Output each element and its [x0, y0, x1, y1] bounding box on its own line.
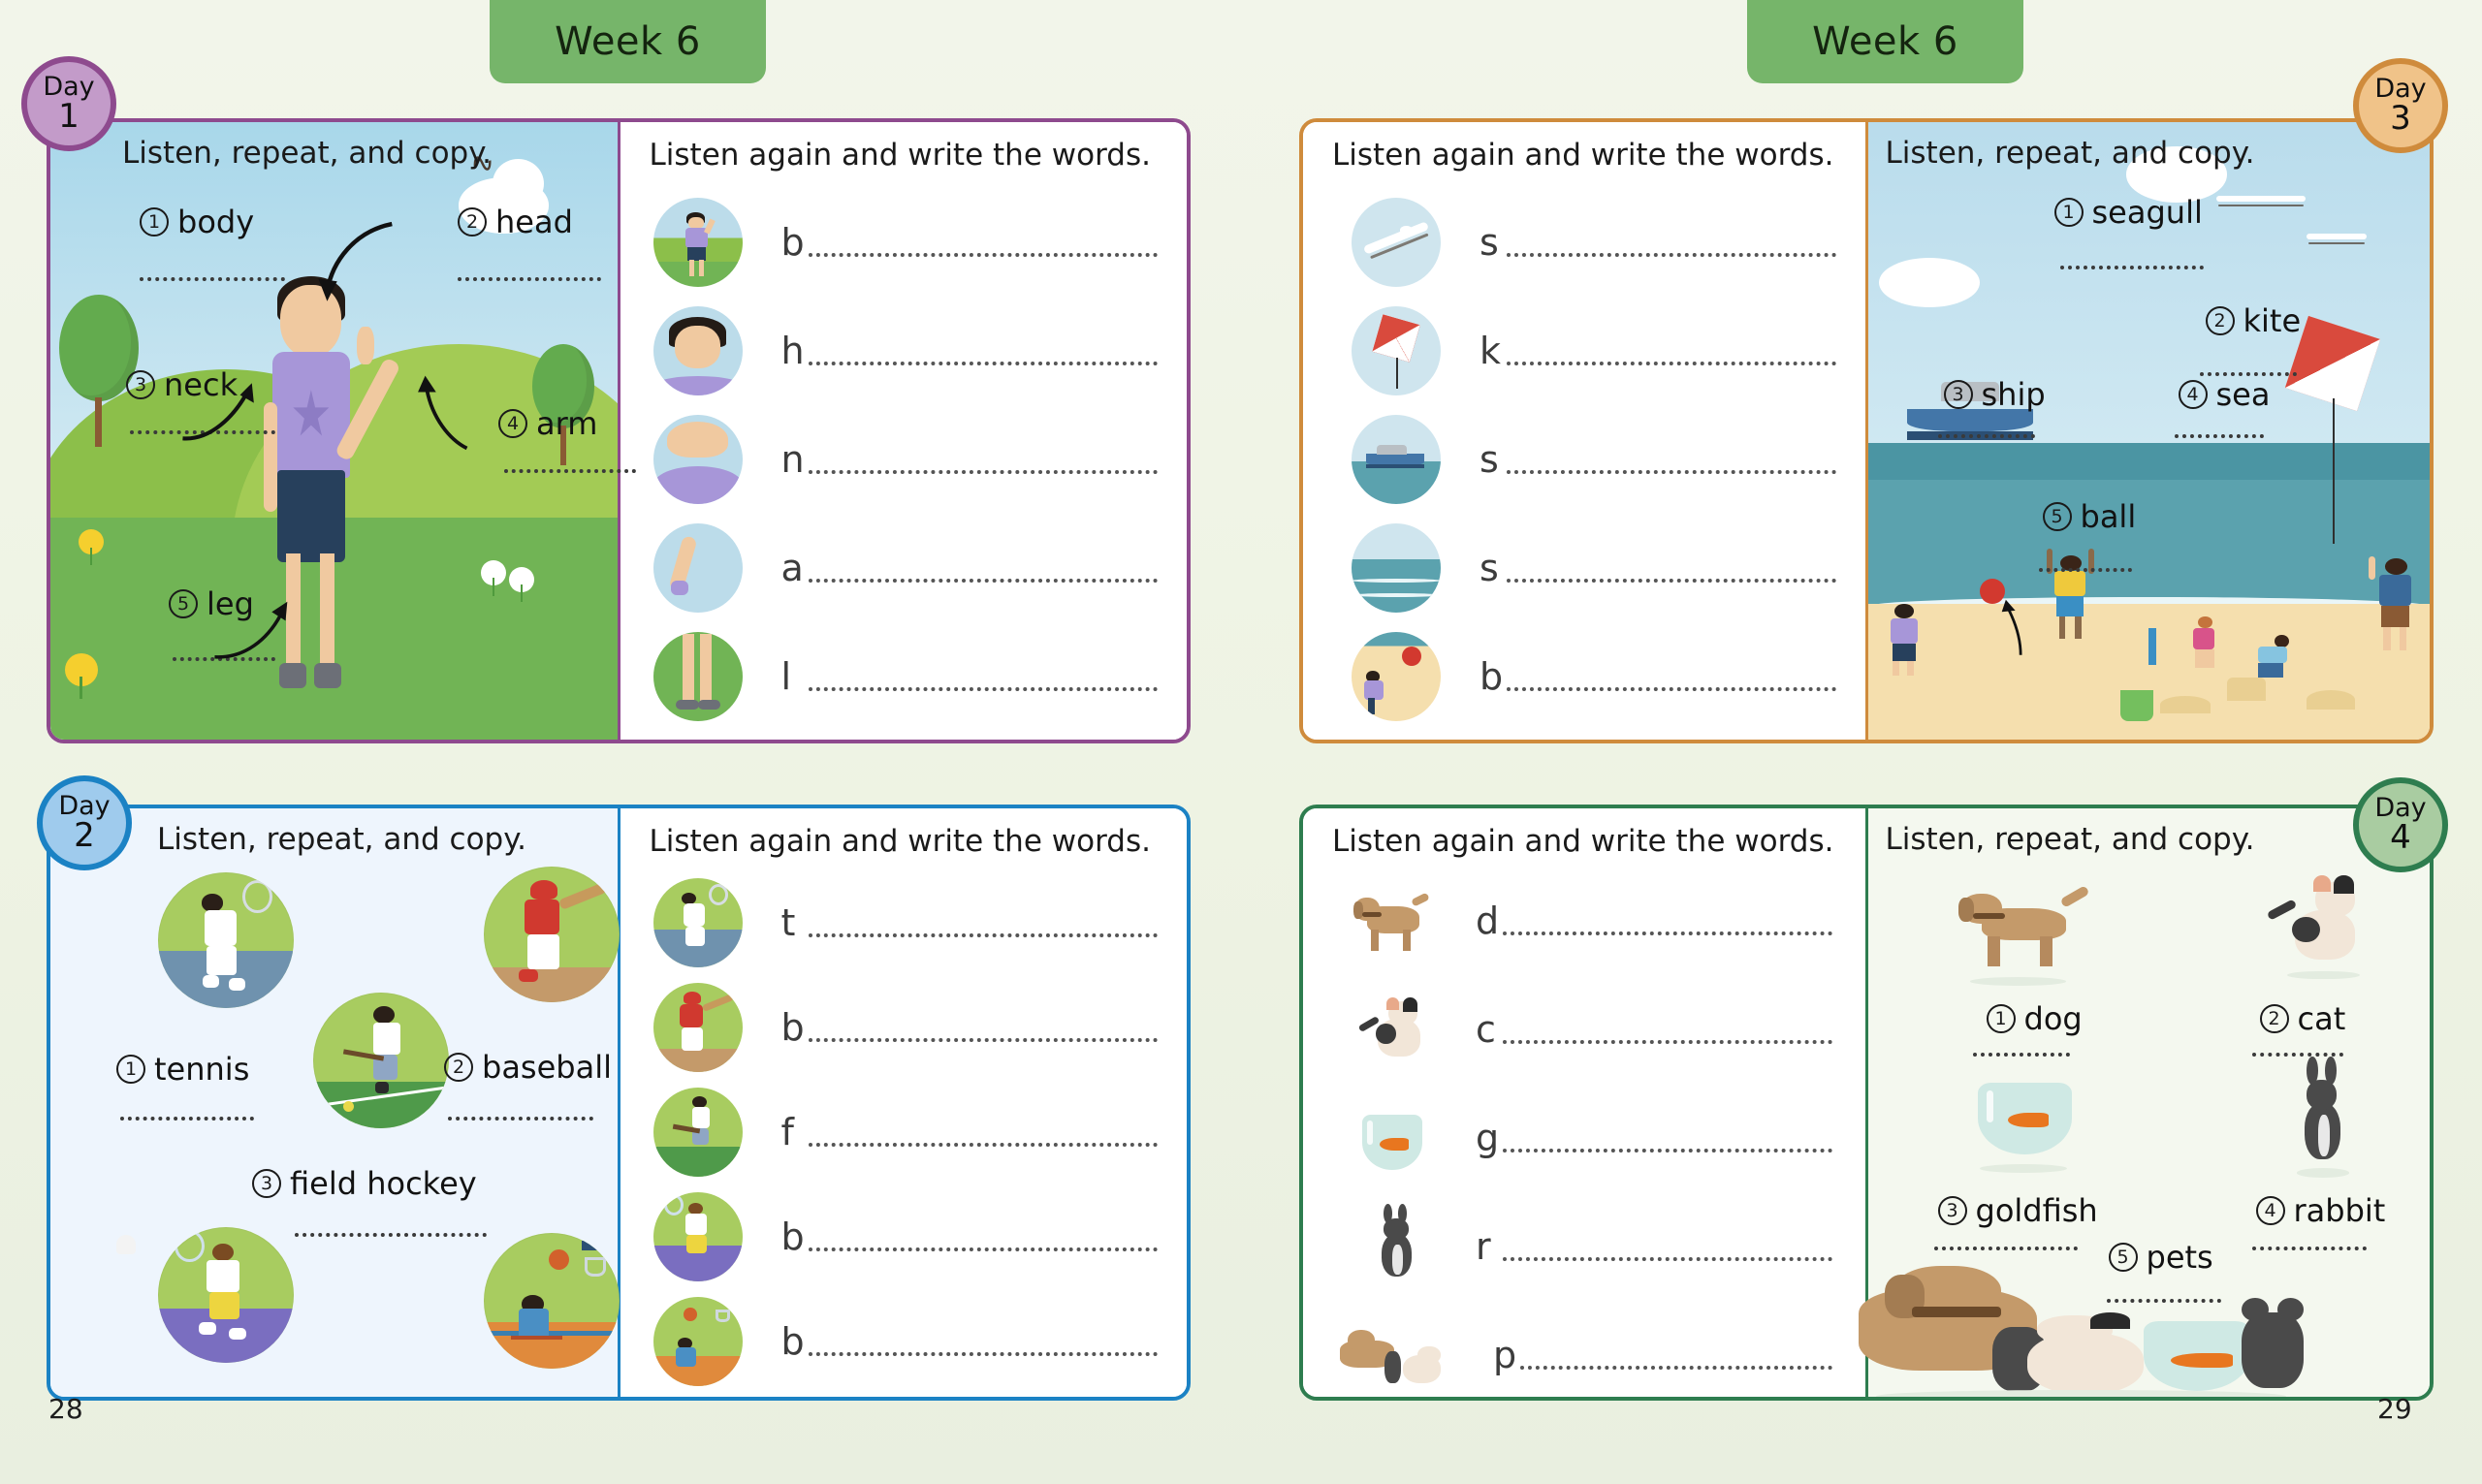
page-number-right: 29: [2377, 1393, 2412, 1425]
letter-hint: s: [1480, 547, 1512, 589]
vocab-word: kite: [2243, 302, 2302, 339]
write-row: s: [1352, 198, 1836, 287]
dog-illustration: [1950, 872, 2095, 979]
bucket-icon: [2120, 690, 2153, 721]
child-with-spade: [2182, 616, 2225, 673]
vocab-word: tennis: [154, 1051, 249, 1088]
day3-write-column: Listen again and write the words. s k: [1303, 122, 1865, 740]
vocab-word: body: [177, 204, 254, 240]
vocab-word: sea: [2216, 376, 2271, 413]
letter-hint: h: [781, 330, 814, 372]
answer-line[interactable]: [2107, 1299, 2221, 1303]
letter-hint: b: [1480, 655, 1512, 698]
week-tab-right: Week 6: [1747, 0, 2023, 83]
day3-badge[interactable]: Day 3: [2353, 58, 2448, 153]
sand-mound-icon: [2307, 690, 2355, 710]
number-badge: 1: [116, 1055, 145, 1084]
tree-icon: [532, 344, 594, 461]
basketball-illustration: [484, 1233, 620, 1369]
answer-line[interactable]: [809, 362, 1158, 365]
write-row: h: [653, 306, 1158, 395]
day-number: 2: [74, 820, 95, 852]
day3-write-instruction: Listen again and write the words.: [1332, 138, 1833, 173]
answer-line[interactable]: [140, 277, 285, 281]
answer-line[interactable]: [2252, 1053, 2343, 1057]
number-badge: 3: [252, 1169, 281, 1198]
flower-icon: [79, 529, 104, 554]
number-badge: 5: [2043, 502, 2072, 531]
label-pets: 5 pets: [2109, 1239, 2213, 1276]
answer-line[interactable]: [809, 1352, 1158, 1356]
pointer-arrow: [1986, 579, 2053, 678]
day4-write-instruction: Listen again and write the words.: [1332, 824, 1833, 859]
answer-line[interactable]: [1507, 687, 1836, 691]
vocab-word: field hockey: [290, 1165, 477, 1202]
label-dog: 1 dog: [1987, 1000, 2083, 1037]
pointer-arrow: [277, 208, 402, 344]
write-row: b: [1352, 632, 1836, 721]
write-row: c: [1348, 985, 1832, 1074]
child-throwing-ball: [1879, 604, 1929, 678]
rabbit-illustration: [2274, 1057, 2367, 1173]
answer-line[interactable]: [809, 579, 1158, 583]
vocab-word: pets: [2147, 1239, 2213, 1276]
letter-hint: g: [1476, 1117, 1509, 1159]
day-number: 1: [58, 101, 80, 133]
letter-hint: r: [1476, 1225, 1509, 1268]
day4-instruction: Listen, repeat, and copy.: [1886, 822, 2255, 857]
answer-line[interactable]: [1503, 1149, 1832, 1152]
child-digging: [2250, 635, 2297, 683]
sea-deep: [1868, 443, 2431, 480]
day4-illustration: Listen, repeat, and copy. 1 dog: [1868, 808, 2431, 1397]
cat-thumb: [1348, 985, 1437, 1074]
answer-line[interactable]: [809, 470, 1158, 474]
vocab-word: baseball: [482, 1049, 612, 1086]
neck-thumb: [653, 415, 743, 504]
number-badge: 1: [140, 207, 169, 237]
vocab-word: head: [495, 204, 573, 240]
label-sea: 4 sea: [2179, 376, 2271, 413]
seagull-icon: [2307, 234, 2367, 239]
label-goldfish: 3 goldfish: [1938, 1192, 2098, 1229]
day1-write-column: Listen again and write the words. b: [620, 122, 1188, 740]
number-badge: 1: [2054, 198, 2084, 227]
sport-badminton: [143, 1227, 308, 1363]
answer-line[interactable]: [1507, 470, 1836, 474]
head-face-thumb: [653, 306, 743, 395]
sport-baseball: [469, 867, 634, 1002]
answer-line[interactable]: [1503, 1040, 1832, 1044]
vocab-word: neck: [164, 366, 238, 403]
number-badge: 3: [126, 370, 155, 399]
page-number-left: 28: [48, 1393, 83, 1425]
label-field-hockey: 3 field hockey: [252, 1165, 477, 1202]
day2-illustration: Listen, repeat, and copy. 1 tennis: [50, 808, 618, 1397]
field-hockey-illustration: [313, 993, 449, 1128]
legs-thumb: [653, 632, 743, 721]
letter-hint: b: [781, 221, 814, 264]
write-row: p: [1338, 1310, 1832, 1400]
letter-hint: l: [781, 655, 814, 698]
sport-field-hockey: [299, 993, 463, 1128]
write-row: g: [1348, 1093, 1832, 1183]
label-head: 2 head: [458, 204, 573, 240]
vocab-word: ball: [2081, 498, 2137, 535]
label-neck: 3 neck: [126, 366, 238, 403]
answer-line[interactable]: [2039, 568, 2132, 572]
number-badge: 5: [2109, 1243, 2138, 1272]
answer-line[interactable]: [2175, 434, 2264, 438]
answer-line[interactable]: [120, 1117, 254, 1121]
boy-standing-thumb: [653, 198, 743, 287]
day3-panel: Listen again and write the words. s k: [1299, 118, 2434, 743]
label-leg: 5 leg: [169, 585, 254, 622]
pets-group-illustration: [1859, 1257, 2305, 1401]
letter-hint: b: [781, 1216, 814, 1258]
label-ship: 3 ship: [1944, 376, 2046, 413]
workbook-spread: Week 6 Week 6 ∿: [0, 0, 2482, 1484]
pets-group-thumb: [1338, 1310, 1454, 1400]
answer-line[interactable]: [1520, 1366, 1832, 1370]
kite-icon: [2295, 326, 2371, 401]
write-row: l: [653, 632, 1158, 721]
letter-hint: b: [781, 1006, 814, 1049]
write-row: n: [653, 415, 1158, 504]
answer-line[interactable]: [809, 1143, 1158, 1147]
letter-hint: a: [781, 547, 814, 589]
answer-line[interactable]: [295, 1233, 487, 1237]
number-badge: 5: [169, 589, 198, 618]
letter-hint: f: [781, 1111, 814, 1153]
number-badge: 2: [444, 1053, 473, 1082]
label-rabbit: 4 rabbit: [2256, 1192, 2386, 1229]
vocab-word: ship: [1982, 376, 2046, 413]
flower-icon: [509, 567, 534, 592]
pointer-arrow: [391, 344, 482, 480]
week-tab-left: Week 6: [490, 0, 766, 83]
vocab-word: goldfish: [1976, 1192, 2098, 1229]
day2-write-instruction: Listen again and write the words.: [650, 824, 1151, 859]
day2-panel: Listen, repeat, and copy. 1 tennis: [47, 805, 1191, 1401]
goldfish-bowl-thumb: [1348, 1093, 1437, 1183]
label-kite: 2 kite: [2206, 302, 2302, 339]
tennis-illustration: [158, 872, 294, 1008]
answer-line[interactable]: [809, 1038, 1158, 1042]
tennis-thumb: [653, 878, 743, 967]
answer-line[interactable]: [1507, 579, 1836, 583]
cloud-icon: [493, 159, 544, 208]
vocab-word: cat: [2298, 1000, 2346, 1037]
day3-illustration: Listen, repeat, and copy. 1 seagull 2 ki…: [1868, 122, 2431, 740]
dog-thumb: [1348, 876, 1437, 965]
answer-line[interactable]: [809, 933, 1158, 937]
answer-line[interactable]: [1503, 1257, 1832, 1261]
number-badge: 4: [2179, 380, 2208, 409]
answer-line[interactable]: [2252, 1247, 2367, 1250]
day1-badge[interactable]: Day 1: [21, 56, 116, 151]
answer-line[interactable]: [1934, 1247, 2078, 1250]
write-row: b: [653, 198, 1158, 287]
write-row: t: [653, 878, 1158, 967]
answer-line[interactable]: [458, 277, 601, 281]
write-row: f: [653, 1088, 1158, 1177]
kite-thumb: [1352, 306, 1441, 395]
letter-hint: b: [781, 1320, 814, 1363]
spade-icon: [2148, 628, 2156, 665]
number-badge: 4: [2256, 1196, 2285, 1225]
baseball-illustration: [484, 867, 620, 1002]
label-seagull: 1 seagull: [2054, 194, 2203, 231]
answer-line[interactable]: [1507, 253, 1836, 257]
number-badge: 3: [1938, 1196, 1967, 1225]
letter-hint: n: [781, 438, 814, 481]
day-number: 3: [2390, 103, 2411, 135]
field-hockey-thumb: [653, 1088, 743, 1177]
label-cat: 2 cat: [2260, 1000, 2346, 1037]
answer-line[interactable]: [504, 469, 636, 473]
write-row: b: [653, 1297, 1158, 1386]
write-row: s: [1352, 415, 1836, 504]
day2-write-column: Listen again and write the words. t: [620, 808, 1188, 1397]
sport-tennis: [143, 872, 308, 1008]
answer-line[interactable]: [448, 1117, 593, 1121]
answer-line[interactable]: [809, 1247, 1158, 1251]
vocab-word: leg: [207, 585, 254, 622]
answer-line[interactable]: [1507, 362, 1836, 365]
day2-instruction: Listen, repeat, and copy.: [157, 822, 526, 857]
letter-hint: s: [1480, 438, 1512, 481]
day3-instruction: Listen, repeat, and copy.: [1886, 136, 2255, 171]
label-ball: 5 ball: [2043, 498, 2137, 535]
number-badge: 2: [458, 207, 487, 237]
write-row: s: [1352, 523, 1836, 613]
vocab-word: dog: [2024, 1000, 2083, 1037]
shuttlecock-icon: [116, 1235, 136, 1254]
number-badge: 4: [498, 409, 527, 438]
day1-instruction: Listen, repeat, and copy.: [122, 136, 492, 171]
day1-panel: ∿: [47, 118, 1191, 743]
write-row: b: [653, 1192, 1158, 1281]
answer-line[interactable]: [2060, 266, 2204, 269]
flower-icon: [481, 560, 506, 585]
answer-line[interactable]: [1503, 931, 1832, 935]
day-number: 4: [2390, 822, 2411, 854]
child-flying-kite: [2368, 554, 2424, 651]
vocab-word: arm: [536, 405, 597, 442]
answer-line[interactable]: [1938, 434, 2035, 438]
basketball-thumb: [653, 1297, 743, 1386]
write-row: b: [653, 983, 1158, 1072]
write-row: k: [1352, 306, 1836, 395]
sand-mound-icon: [2160, 696, 2211, 713]
day4-panel: Listen again and write the words. d: [1299, 805, 2434, 1401]
ship-thumb: [1352, 415, 1441, 504]
day1-illustration: ∿: [50, 122, 618, 740]
write-row: d: [1348, 876, 1832, 965]
vocab-word: seagull: [2092, 194, 2203, 231]
day4-badge[interactable]: Day 4: [2353, 777, 2448, 872]
seagull-icon: [2216, 196, 2306, 202]
badminton-illustration: [158, 1227, 294, 1363]
number-badge: 2: [2260, 1004, 2289, 1033]
number-badge: 1: [1987, 1004, 2016, 1033]
letter-hint: p: [1493, 1334, 1526, 1376]
letter-hint: d: [1476, 900, 1509, 942]
write-row: a: [653, 523, 1158, 613]
day1-write-instruction: Listen again and write the words.: [650, 138, 1151, 173]
cat-illustration: [2260, 867, 2376, 975]
sport-basketball: [469, 1233, 634, 1369]
flower-icon: [65, 653, 98, 686]
cloud-icon: [1879, 258, 1980, 307]
letter-hint: k: [1480, 330, 1512, 372]
arm-thumb: [653, 523, 743, 613]
letter-hint: s: [1480, 221, 1512, 264]
number-badge: 2: [2206, 306, 2235, 335]
answer-line[interactable]: [809, 253, 1158, 257]
letter-hint: t: [781, 901, 814, 944]
number-badge: 3: [1944, 380, 1973, 409]
baseball-thumb: [653, 983, 743, 1072]
answer-line[interactable]: [1973, 1053, 2070, 1057]
label-body: 1 body: [140, 204, 254, 240]
goldfish-bowl-illustration: [1969, 1068, 2084, 1169]
day2-badge[interactable]: Day 2: [37, 775, 132, 870]
label-tennis: 1 tennis: [116, 1051, 249, 1088]
rabbit-thumb: [1348, 1202, 1437, 1291]
day4-write-column: Listen again and write the words. d: [1303, 808, 1865, 1397]
answer-line[interactable]: [809, 687, 1158, 691]
letter-hint: c: [1476, 1008, 1509, 1051]
vocab-word: rabbit: [2294, 1192, 2386, 1229]
seagull-thumb: [1352, 198, 1441, 287]
write-row: r: [1348, 1202, 1832, 1291]
label-arm: 4 arm: [498, 405, 597, 442]
label-baseball: 2 baseball: [444, 1049, 612, 1086]
ball-thumb: [1352, 632, 1441, 721]
sea-thumb: [1352, 523, 1441, 613]
badminton-thumb: [653, 1192, 743, 1281]
